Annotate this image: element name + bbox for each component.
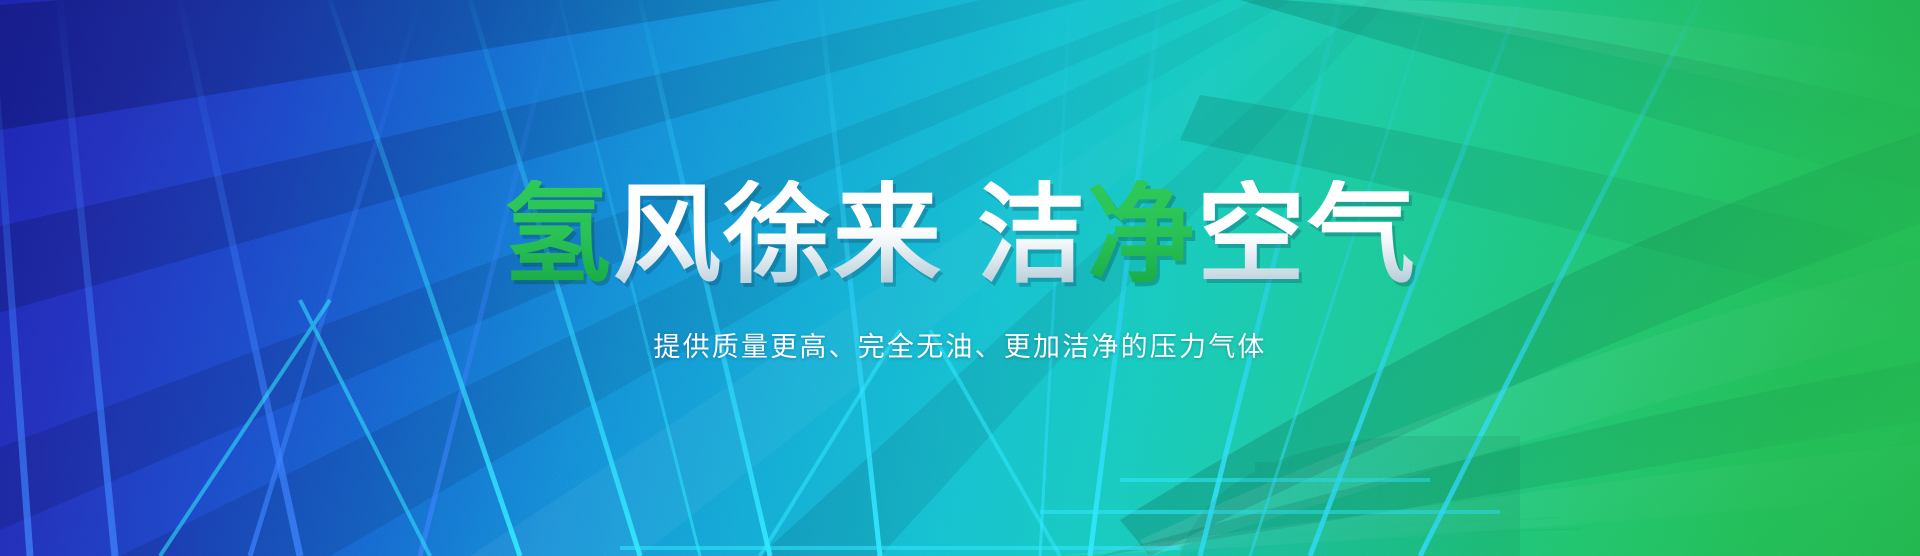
headline-segment-2: 风徐来	[613, 180, 943, 290]
headline-segment-4: 净	[1087, 180, 1197, 290]
hero-banner: 氢 风徐来 洁 净 空气 提供质量更高、完全无油、更加洁净的压力气体	[0, 0, 1920, 556]
headline: 氢 风徐来 洁 净 空气	[503, 180, 1417, 290]
headline-segment-5: 空气	[1197, 180, 1417, 290]
headline-segment-3: 洁	[977, 180, 1087, 290]
subtitle: 提供质量更高、完全无油、更加洁净的压力气体	[653, 325, 1266, 364]
headline-segment-1: 氢	[503, 180, 613, 290]
banner-content: 氢 风徐来 洁 净 空气 提供质量更高、完全无油、更加洁净的压力气体	[0, 0, 1920, 556]
